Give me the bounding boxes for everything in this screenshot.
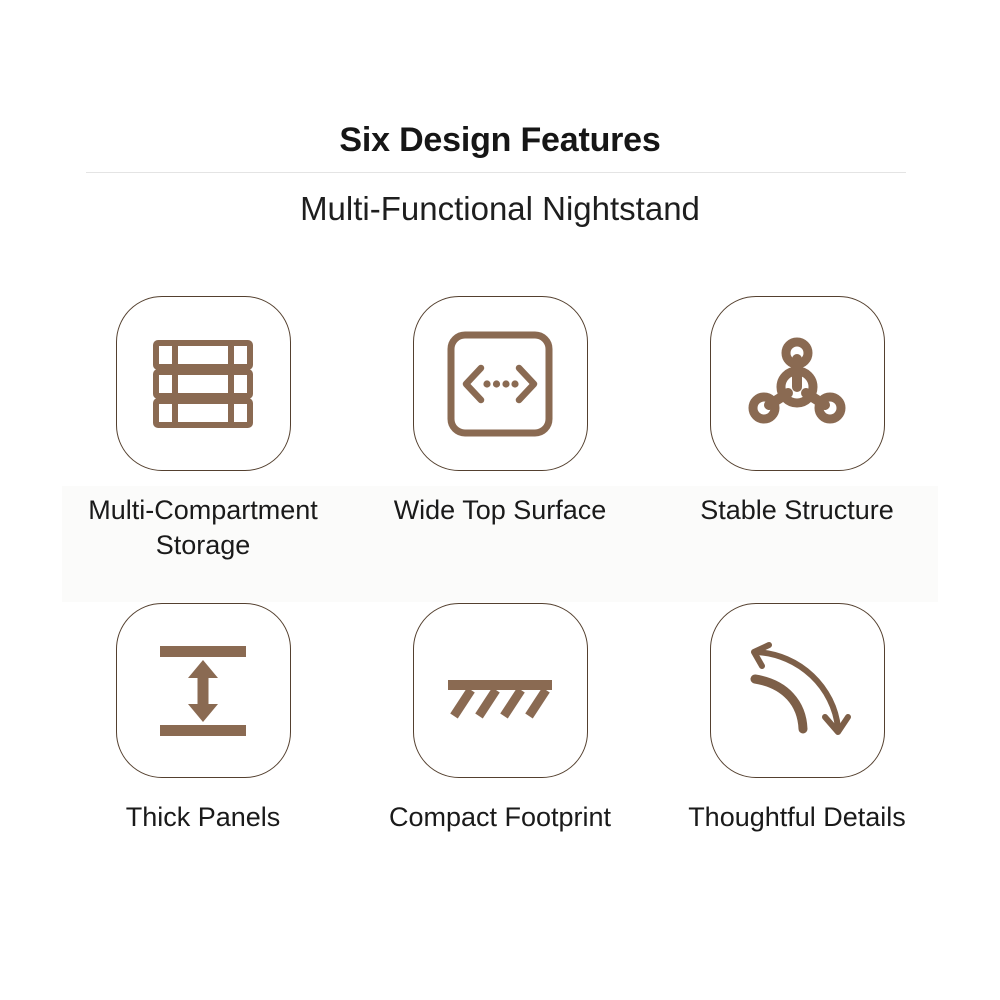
feature-row-1: Multi-Compartment Storage	[0, 296, 1000, 576]
feature-label: Compact Footprint	[355, 800, 645, 835]
feature-icon-tile	[710, 603, 885, 778]
molecule-node-icon	[738, 325, 856, 443]
feature-label: Thoughtful Details	[652, 800, 942, 835]
feature-icon-tile	[413, 603, 588, 778]
feature-card-thoughtful-details[interactable]: Thoughtful Details	[649, 603, 946, 883]
drawer-shelves-icon	[144, 325, 262, 443]
horizontal-double-arrow-icon	[441, 325, 559, 443]
feature-card-compact-footprint[interactable]: Compact Footprint	[352, 603, 649, 883]
feature-icon-tile	[116, 296, 291, 471]
header: Six Design Features Multi-Functional Nig…	[0, 0, 1000, 230]
feature-label: Stable Structure	[652, 493, 942, 528]
feature-card-thick-panels[interactable]: Thick Panels	[55, 603, 352, 883]
feature-card-stable-structure[interactable]: Stable Structure	[649, 296, 946, 576]
feature-icon-tile	[116, 603, 291, 778]
feature-label: Wide Top Surface	[355, 493, 645, 528]
feature-label: Thick Panels	[58, 800, 348, 835]
feature-card-wide-top-surface[interactable]: Wide Top Surface	[352, 296, 649, 576]
page-title: Six Design Features	[0, 118, 1000, 162]
vertical-thickness-arrow-icon	[144, 632, 262, 750]
feature-label: Multi-Compartment Storage	[58, 493, 348, 563]
page-subtitle: Multi-Functional Nightstand	[0, 188, 1000, 230]
feature-icon-tile	[413, 296, 588, 471]
feature-card-multi-compartment-storage[interactable]: Multi-Compartment Storage	[55, 296, 352, 576]
curved-double-arrow-icon	[738, 632, 856, 750]
infographic-page: Six Design Features Multi-Functional Nig…	[0, 0, 1000, 1000]
header-divider	[86, 172, 906, 173]
feature-row-2: Thick Panels Compact Footprint	[0, 603, 1000, 883]
feature-icon-tile	[710, 296, 885, 471]
rake-legs-icon	[441, 632, 559, 750]
